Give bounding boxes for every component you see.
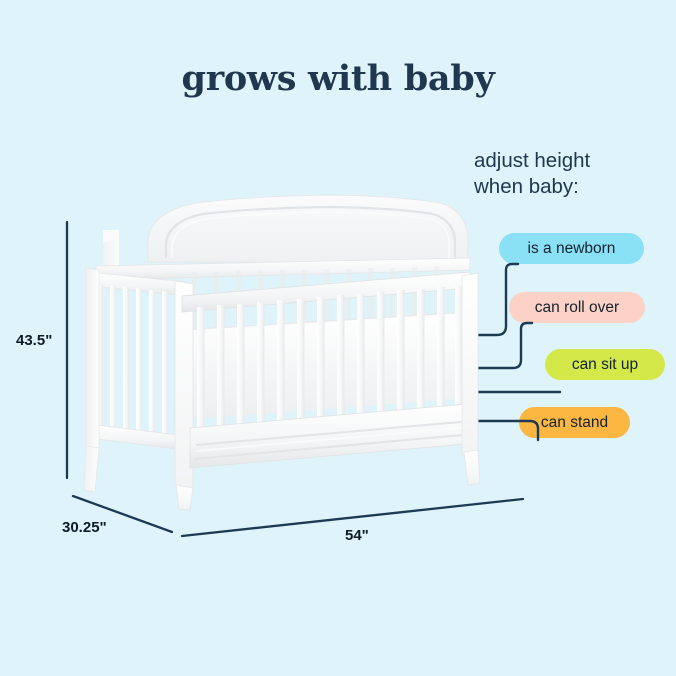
diagram-canvas: grows with baby (0, 0, 676, 676)
dimension-lines (0, 0, 676, 676)
dimension-line-depth (73, 496, 172, 532)
dimension-line-width (182, 499, 523, 536)
